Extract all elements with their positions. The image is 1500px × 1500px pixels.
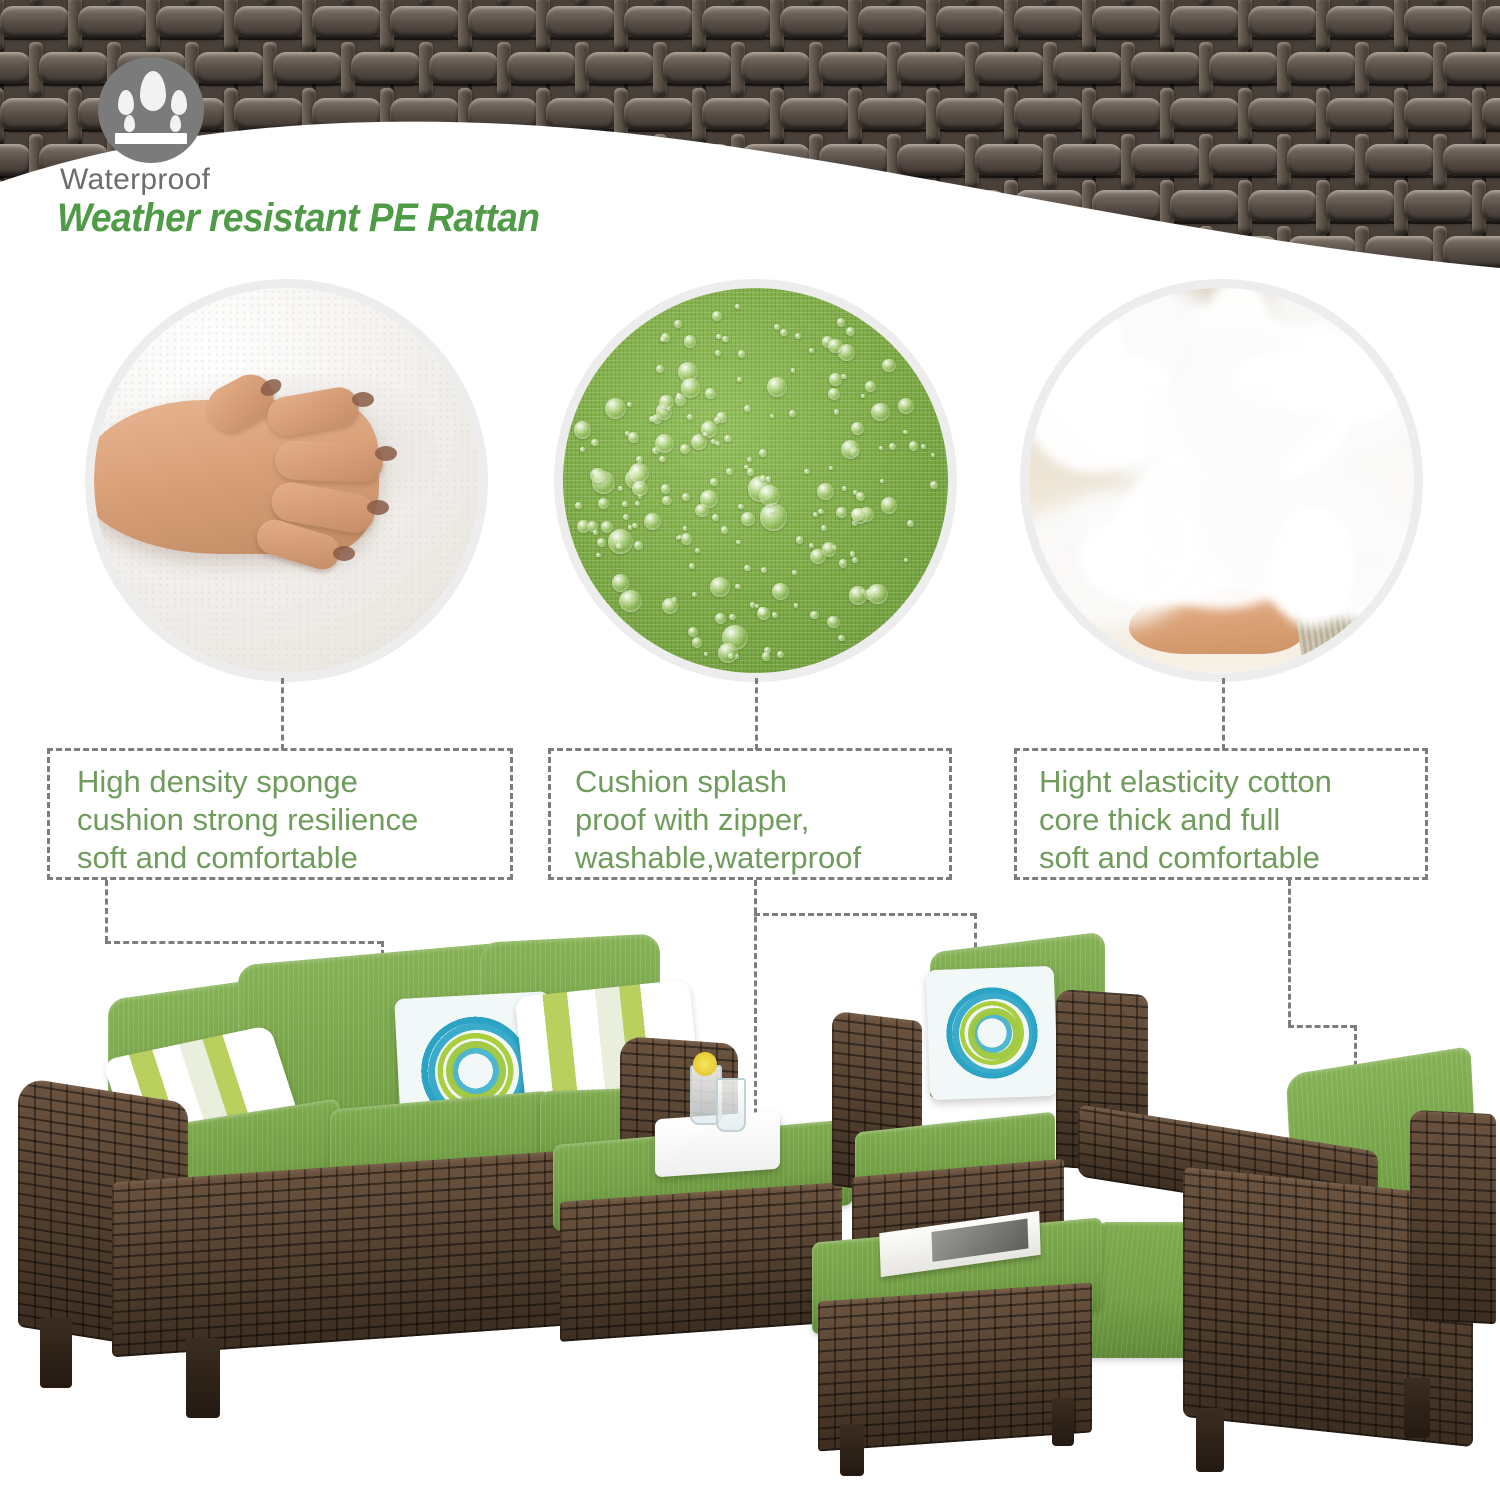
page-title: Weather resistant PE Rattan [57,196,539,241]
connector-line-1 [281,678,284,750]
badge-label: Waterproof [60,163,210,197]
callout-text-3: Hight elasticity cotton core thick and f… [1017,751,1425,877]
product-scene [0,900,1500,1500]
feature-photo-cushion-splash-proof [563,288,948,673]
feature-photo-high-elasticity-cotton [1029,288,1414,673]
callout-text-2: Cushion splash proof with zipper, washab… [551,751,949,877]
callout-box-high-elasticity-cotton: Hight elasticity cotton core thick and f… [1014,748,1428,880]
lemon-slice [693,1052,717,1076]
callout-box-cushion-splash-proof: Cushion splash proof with zipper, washab… [548,748,952,880]
feature-photo-high-density-sponge [94,288,479,673]
drinking-glass-2 [716,1078,746,1132]
waterproof-icon [98,57,204,163]
white-wave-divider [0,90,1500,270]
callout-box-high-density-sponge: High density sponge cushion strong resil… [47,748,513,880]
medallion-pillow-armchair [926,966,1058,1100]
callout-text-1: High density sponge cushion strong resil… [50,751,510,877]
waterproof-icon-bar [115,133,187,144]
connector-line-3 [1222,678,1225,750]
connector-line-2 [755,678,758,750]
